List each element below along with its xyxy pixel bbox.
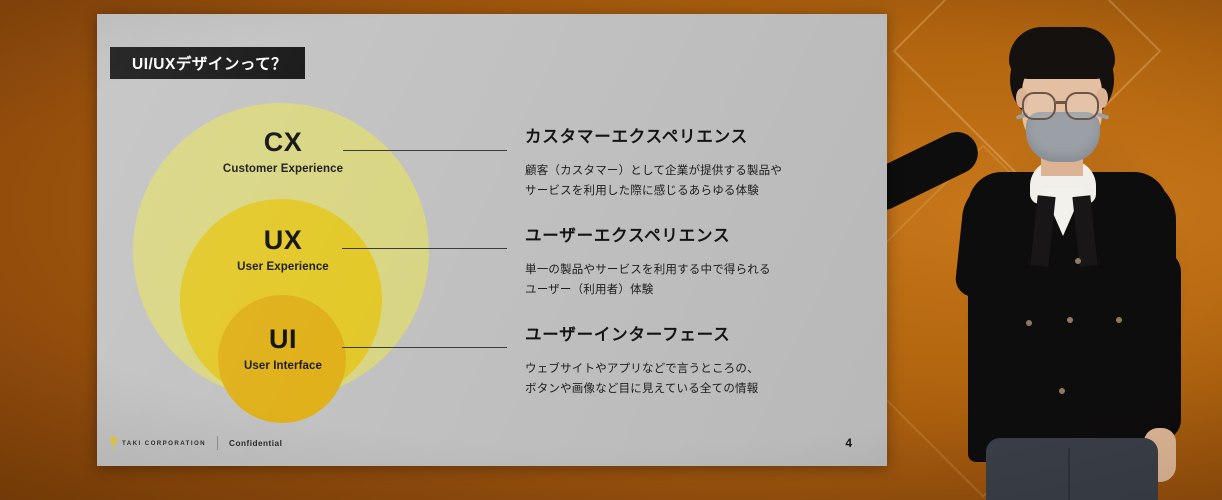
description-ux-line1: 単一の製品やサービスを利用する中で得られる bbox=[525, 264, 771, 276]
company-name: TAKI CORPORATION bbox=[122, 440, 206, 447]
connector-line-cx bbox=[343, 150, 507, 151]
eyeglass-bridge bbox=[1056, 101, 1067, 104]
description-ui-line1: ウェブサイトやアプリなどで言うところの、 bbox=[525, 363, 759, 375]
presenter-hair-front bbox=[1009, 27, 1115, 79]
slide-title-ribbon: UI/UXデザインって？ bbox=[110, 47, 305, 79]
jacket-button bbox=[1067, 317, 1073, 323]
presenter-arm-right bbox=[1135, 250, 1181, 440]
label-ui: UI User Interface bbox=[133, 326, 433, 372]
description-body-ux: 単一の製品やサービスを利用する中で得られる ユーザー（利用者）体験 bbox=[525, 260, 855, 300]
presenter-video-feed bbox=[930, 0, 1222, 500]
description-body-cx: 顧客（カスタマー）として企業が提供する製品や サービスを利用した際に感じるあらゆ… bbox=[525, 161, 855, 201]
eyeglass-lens-right bbox=[1065, 92, 1099, 120]
connector-line-ux bbox=[342, 248, 507, 249]
label-cx-full: Customer Experience bbox=[133, 163, 433, 175]
presenter-trousers bbox=[986, 438, 1158, 500]
connector-line-ui bbox=[342, 347, 507, 348]
video-call-stage: UI/UXデザインって？ CX Customer Experience UX U… bbox=[0, 0, 1222, 500]
label-ux-full: User Experience bbox=[133, 261, 433, 273]
description-block-ux: ユーザーエクスペリエンス 単一の製品やサービスを利用する中で得られる ユーザー（… bbox=[525, 227, 855, 300]
slide-footer: TAKI CORPORATION Confidential 4 bbox=[110, 436, 874, 450]
footer-divider bbox=[217, 436, 218, 450]
nested-circles-diagram: CX Customer Experience UX User Experienc… bbox=[133, 103, 433, 403]
label-cx: CX Customer Experience bbox=[133, 129, 433, 175]
jacket-button bbox=[1026, 320, 1032, 326]
eyeglass-lens-left bbox=[1022, 92, 1056, 120]
description-ui-line2: ボタンや画像など目に見えている全ての情報 bbox=[525, 383, 758, 395]
trouser-seam bbox=[1068, 448, 1070, 500]
description-cx-line2: サービスを利用した際に感じるあらゆる体験 bbox=[525, 185, 759, 197]
label-ui-full: User Interface bbox=[133, 360, 433, 372]
label-ui-abbr: UI bbox=[133, 326, 433, 353]
description-cx-line1: 顧客（カスタマー）として企業が提供する製品や bbox=[525, 165, 782, 177]
label-ux-abbr: UX bbox=[133, 227, 433, 254]
jacket-button bbox=[1059, 388, 1065, 394]
description-body-ui: ウェブサイトやアプリなどで言うところの、 ボタンや画像など目に見えている全ての情… bbox=[525, 359, 855, 399]
page-number: 4 bbox=[845, 436, 874, 450]
description-block-ui: ユーザーインターフェース ウェブサイトやアプリなどで言うところの、 ボタンや画像… bbox=[525, 326, 855, 399]
taki-logo-icon bbox=[110, 437, 117, 449]
description-block-cx: カスタマーエクスペリエンス 顧客（カスタマー）として企業が提供する製品や サービ… bbox=[525, 128, 855, 201]
label-ux: UX User Experience bbox=[133, 227, 433, 273]
description-heading-ux: ユーザーエクスペリエンス bbox=[525, 227, 855, 247]
jacket-button bbox=[1116, 317, 1122, 323]
description-heading-cx: カスタマーエクスペリエンス bbox=[525, 128, 855, 148]
presentation-slide[interactable]: UI/UXデザインって？ CX Customer Experience UX U… bbox=[97, 14, 887, 466]
confidential-label: Confidential bbox=[229, 439, 282, 448]
label-cx-abbr: CX bbox=[133, 129, 433, 156]
description-heading-ui: ユーザーインターフェース bbox=[525, 326, 855, 346]
jacket-button bbox=[1075, 258, 1081, 264]
slide-title: UI/UXデザインって？ bbox=[132, 52, 287, 74]
description-ux-line2: ユーザー（利用者）体験 bbox=[525, 284, 653, 296]
